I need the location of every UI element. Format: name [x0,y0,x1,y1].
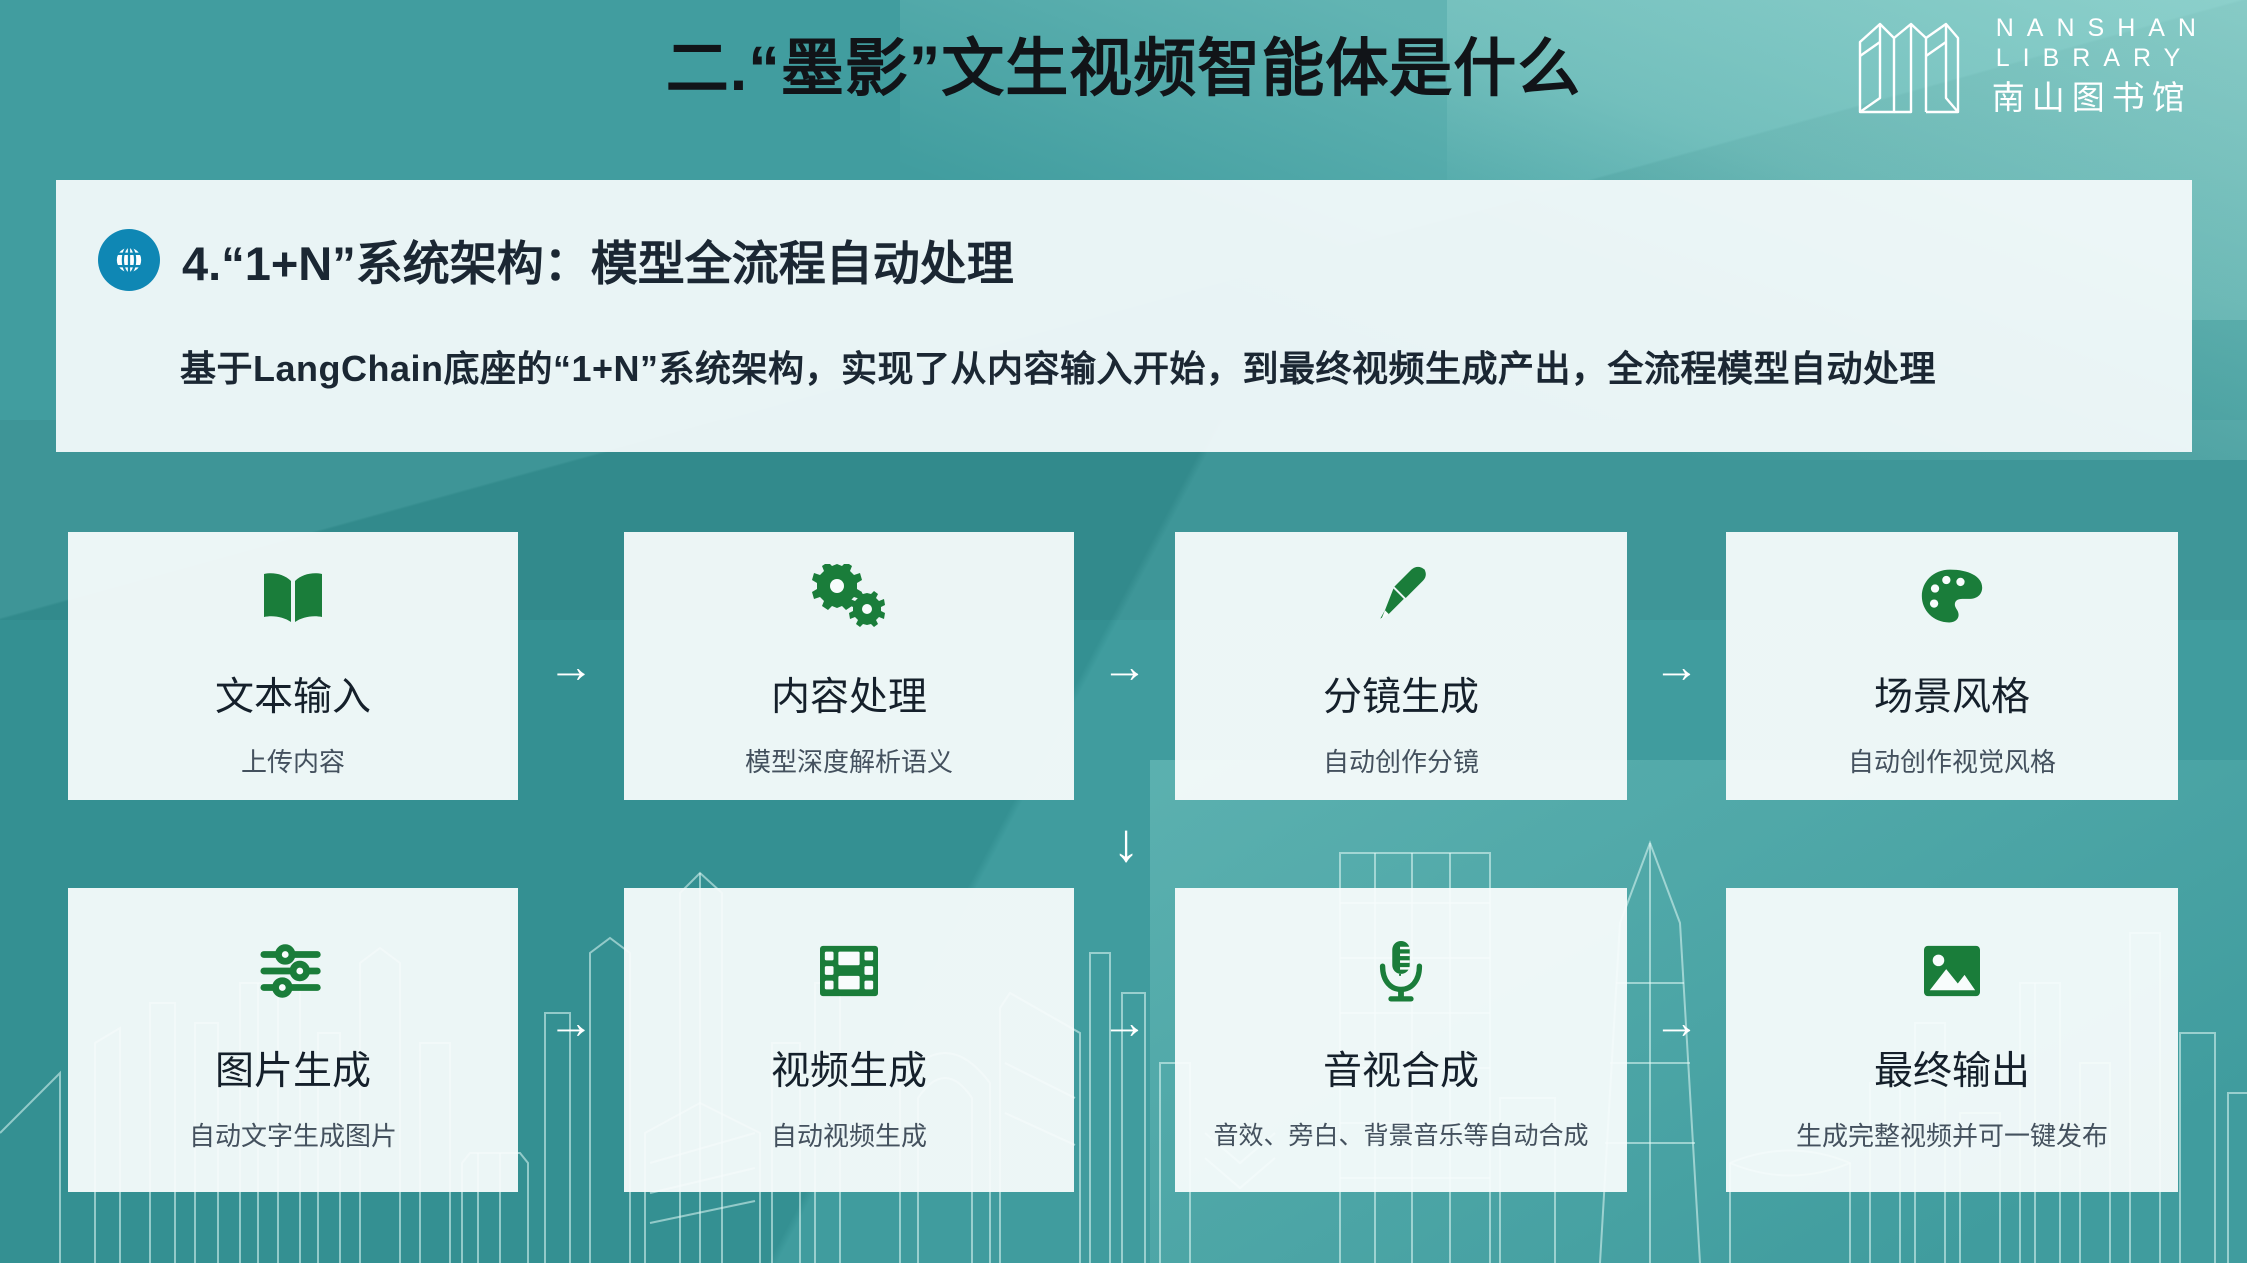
palette-icon [1919,554,1985,640]
flow-step-subtitle: 自动文字生成图片 [189,1116,397,1153]
gears-icon [811,554,887,640]
flow-step-subtitle: 上传内容 [241,742,345,779]
flow-step-title: 图片生成 [215,1040,371,1096]
slide-header: 二.“墨影”文生视频智能体是什么 NANSHAN LIBRARY 南山图书馆 [0,0,2247,170]
sliders-icon [259,928,327,1014]
flow-step-card-5[interactable]: 图片生成 自动文字生成图片 [68,888,518,1192]
globe-icon [98,229,160,291]
arrow-down-icon: ↓ [1078,800,1174,886]
arrow-right-icon-4: → [518,996,624,1048]
library-logo: NANSHAN LIBRARY 南山图书馆 [1848,12,2209,120]
flow-step-subtitle: 音效、旁白、背景音乐等自动合成 [1213,1116,1588,1152]
arrow-right-icon-1: → [518,640,624,692]
image-icon [1922,928,1982,1014]
flow-step-card-4[interactable]: 场景风格 自动创作视觉风格 [1726,532,2178,800]
flow-step-subtitle: 模型深度解析语义 [745,742,953,779]
flow-step-title: 视频生成 [771,1040,927,1096]
flow-step-card-1[interactable]: 文本输入 上传内容 [68,532,518,800]
open-book-icon [257,554,329,640]
flow-step-card-2[interactable]: 内容处理 模型深度解析语义 [624,532,1074,800]
logo-line-cn: 南山图书馆 [1992,80,2209,116]
flow-step-title: 最终输出 [1874,1040,2030,1096]
flow-step-subtitle: 自动创作分镜 [1323,742,1479,779]
logo-wordmark: NANSHAN LIBRARY 南山图书馆 [1992,16,2209,116]
logo-line-en-2: LIBRARY [1992,46,2209,71]
flow-step-subtitle: 自动视频生成 [771,1116,927,1153]
flow-step-subtitle: 自动创作视觉风格 [1848,742,2056,779]
flow-step-title: 分镜生成 [1323,666,1479,722]
flow-step-subtitle: 生成完整视频并可一键发布 [1796,1116,2108,1153]
flow-step-card-3[interactable]: 分镜生成 自动创作分镜 [1175,532,1627,800]
flow-step-title: 音视合成 [1323,1040,1479,1096]
flow-step-card-8[interactable]: 最终输出 生成完整视频并可一键发布 [1726,888,2178,1192]
banner-heading-row: 4.“1+N”系统架构：模型全流程自动处理 [98,225,1014,294]
logo-line-en-1: NANSHAN [1992,16,2209,41]
flow-step-card-7[interactable]: 音视合成 音效、旁白、背景音乐等自动合成 [1175,888,1627,1192]
flow-step-title: 内容处理 [771,666,927,722]
flow-step-card-6[interactable]: 视频生成 自动视频生成 [624,888,1074,1192]
section-banner: 4.“1+N”系统架构：模型全流程自动处理 基于LangChain底座的“1+N… [56,180,2192,452]
arrow-right-icon-2: → [1074,640,1175,692]
banner-description: 基于LangChain底座的“1+N”系统架构，实现了从内容输入开始，到最终视频… [180,340,1936,392]
flow-step-title: 场景风格 [1874,666,2030,722]
film-strip-icon [818,928,880,1014]
banner-title: 4.“1+N”系统架构：模型全流程自动处理 [182,225,1014,294]
pen-nib-icon [1368,554,1434,640]
arrow-right-icon-3: → [1627,640,1726,692]
flow-step-title: 文本输入 [215,666,371,722]
arrow-right-icon-5: → [1074,996,1175,1048]
microphone-icon [1374,928,1428,1014]
nanshan-library-building-mark-icon [1848,12,1966,120]
arrow-right-icon-6: → [1627,996,1726,1048]
